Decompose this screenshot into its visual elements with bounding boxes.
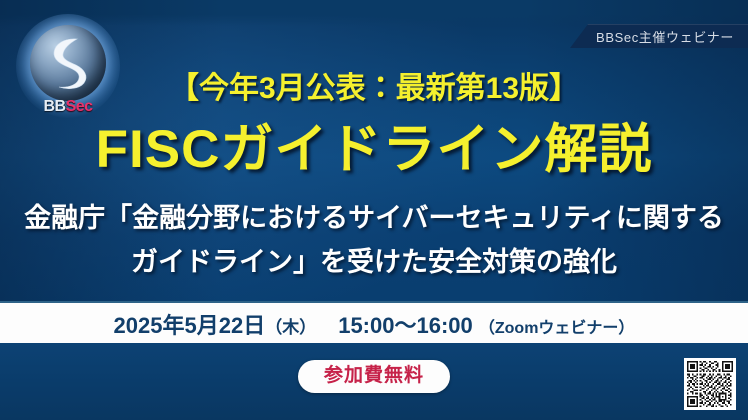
- subtitle-line-2: ガイドライン」を受けた安全対策の強化: [0, 240, 748, 284]
- page-title: FISCガイドライン解説: [0, 120, 748, 180]
- date-band: 2025年5月22日（木）15:00〜16:00 （Zoomウェビナー）: [0, 301, 748, 347]
- host-ribbon-label: BBSec主催ウェビナー: [596, 27, 734, 46]
- status-badge-free: 参加費無料: [298, 360, 450, 393]
- qr-code-icon[interactable]: [684, 358, 736, 410]
- qr-code-graphic: [687, 361, 733, 407]
- kicker-text: 【今年3月公表：最新第13版】: [0, 72, 748, 106]
- host-ribbon: BBSec主催ウェビナー: [570, 24, 748, 48]
- event-weekday: （木）: [265, 318, 316, 337]
- schedule-text: 2025年5月22日（木）15:00〜16:00 （Zoomウェビナー）: [114, 308, 635, 340]
- event-time: 15:00〜16:00: [338, 313, 473, 338]
- subtitle-line-1: 金融庁「金融分野におけるサイバーセキュリティに関する: [0, 196, 748, 240]
- event-date: 2025年5月22日: [114, 313, 266, 338]
- event-platform: （Zoomウェビナー）: [479, 320, 635, 337]
- subtitle: 金融庁「金融分野におけるサイバーセキュリティに関する ガイドライン」を受けた安全…: [0, 196, 748, 284]
- webinar-banner: BBSec BBSec主催ウェビナー 【今年3月公表：最新第13版】 FISCガ…: [0, 0, 748, 420]
